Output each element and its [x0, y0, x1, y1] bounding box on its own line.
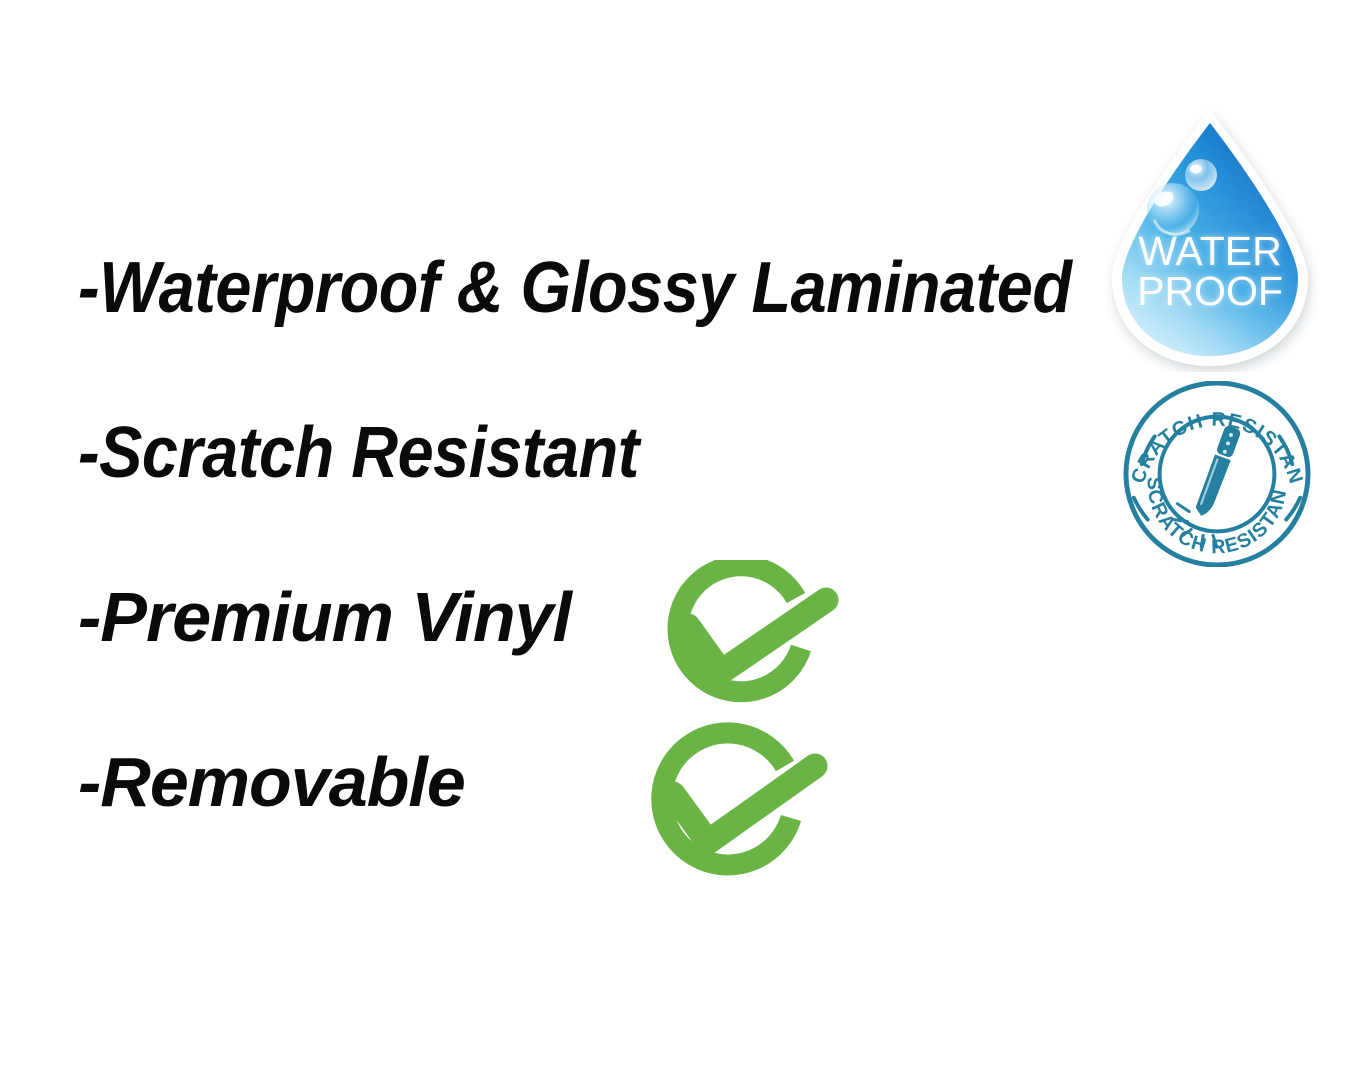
feature-item-removable: -Removable [78, 747, 1108, 912]
feature-item-waterproof: -Waterproof & Glossy Laminated [78, 252, 1108, 417]
knife-blade [1194, 454, 1231, 518]
scratch-resistant-seal: SCRATCH RESISTANT SCRATCH RESISTANT [1118, 381, 1316, 567]
check-circle-removable [628, 722, 833, 882]
feature-label: -Scratch Resistant [78, 417, 639, 489]
check-circle-premium-vinyl [641, 560, 846, 710]
feature-label: -Waterproof & Glossy Laminated [78, 252, 1071, 324]
feature-list: -Waterproof & Glossy Laminated -Scratch … [78, 252, 1108, 912]
water-drop-icon [1096, 104, 1332, 372]
water-bubble-small [1185, 159, 1217, 191]
waterproof-droplet-badge: WATER PROOF [1096, 104, 1332, 372]
check-circle-icon [628, 722, 833, 882]
water-bubble-large [1147, 183, 1199, 235]
feature-item-scratch-resistant: -Scratch Resistant [78, 417, 1108, 582]
droplet-sheen [1122, 123, 1298, 356]
poster-canvas: -Waterproof & Glossy Laminated -Scratch … [0, 0, 1359, 1080]
water-bubble-small-highlight [1190, 165, 1202, 174]
check-circle-icon [641, 560, 846, 710]
feature-item-premium-vinyl: -Premium Vinyl [78, 582, 1108, 747]
scratch-resistant-icon: SCRATCH RESISTANT SCRATCH RESISTANT [1118, 381, 1316, 567]
knife-icon [1194, 425, 1242, 519]
feature-label: -Premium Vinyl [78, 582, 571, 652]
feature-label: -Removable [78, 747, 465, 817]
